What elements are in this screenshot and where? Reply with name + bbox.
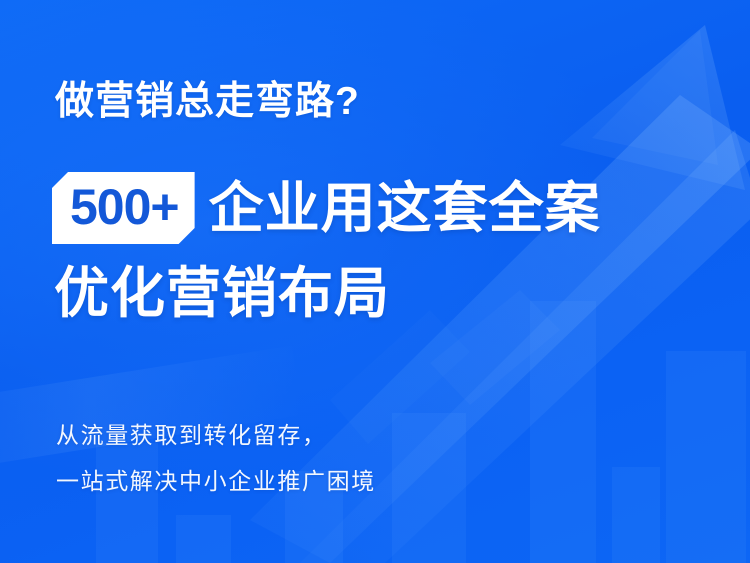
subtitle-line-1: 从流量获取到转化留存， [56,416,327,450]
subtitle-line-2: 一站式解决中小企业推广困境 [56,462,376,496]
headline-line-1: 企业用这套全案 [209,181,601,236]
count-badge: 500+ [52,172,195,244]
banner-content: 做营销总走弯路? 500+ 企业用这套全案 优化营销布局 从流量获取到转化留存，… [0,0,750,563]
headline-line-2: 优化营销布局 [54,262,390,325]
kicker-text: 做营销总走弯路? [55,80,360,124]
headline-primary-row: 500+ 企业用这套全案 [52,172,601,244]
marketing-banner: 做营销总走弯路? 500+ 企业用这套全案 优化营销布局 从流量获取到转化留存，… [0,0,750,563]
